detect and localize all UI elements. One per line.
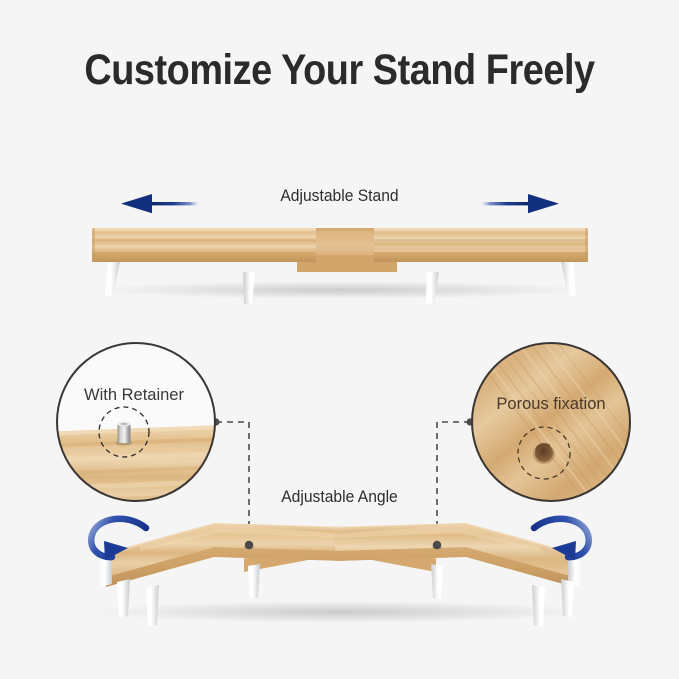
angle-leg-outer-left bbox=[117, 579, 130, 617]
angle-leg-inner-left bbox=[248, 564, 260, 599]
with-retainer-label: With Retainer bbox=[84, 386, 184, 404]
illustration-stage: With Retainer bbox=[0, 0, 679, 679]
callout-porous-fixation: Porous fixation bbox=[455, 330, 679, 520]
angle-leg-front-left bbox=[146, 585, 159, 626]
angle-leg-inner-right bbox=[431, 564, 443, 599]
angle-shadow bbox=[90, 601, 590, 623]
adjustable-angle-illustration bbox=[90, 519, 590, 626]
arrow-left-icon bbox=[121, 194, 202, 213]
stand-panel-right bbox=[374, 228, 588, 262]
porous-fixation-label: Porous fixation bbox=[496, 395, 605, 413]
angle-leg-front-right bbox=[532, 585, 545, 626]
stand-shadow bbox=[95, 281, 585, 299]
retainer-pin-icon bbox=[116, 422, 133, 446]
angle-panel-right bbox=[335, 523, 580, 587]
stand-leg-inner-right bbox=[243, 272, 255, 304]
arrow-right-icon bbox=[478, 194, 559, 213]
infographic-page: Customize Your Stand Freely Adjustable S… bbox=[0, 0, 679, 679]
angle-panel-left bbox=[100, 523, 345, 587]
callout-with-retainer: With Retainer bbox=[40, 343, 250, 520]
angle-leg-outer-right bbox=[561, 579, 574, 617]
adjustable-stand-illustration bbox=[92, 194, 588, 304]
stand-panel-left bbox=[92, 228, 316, 262]
